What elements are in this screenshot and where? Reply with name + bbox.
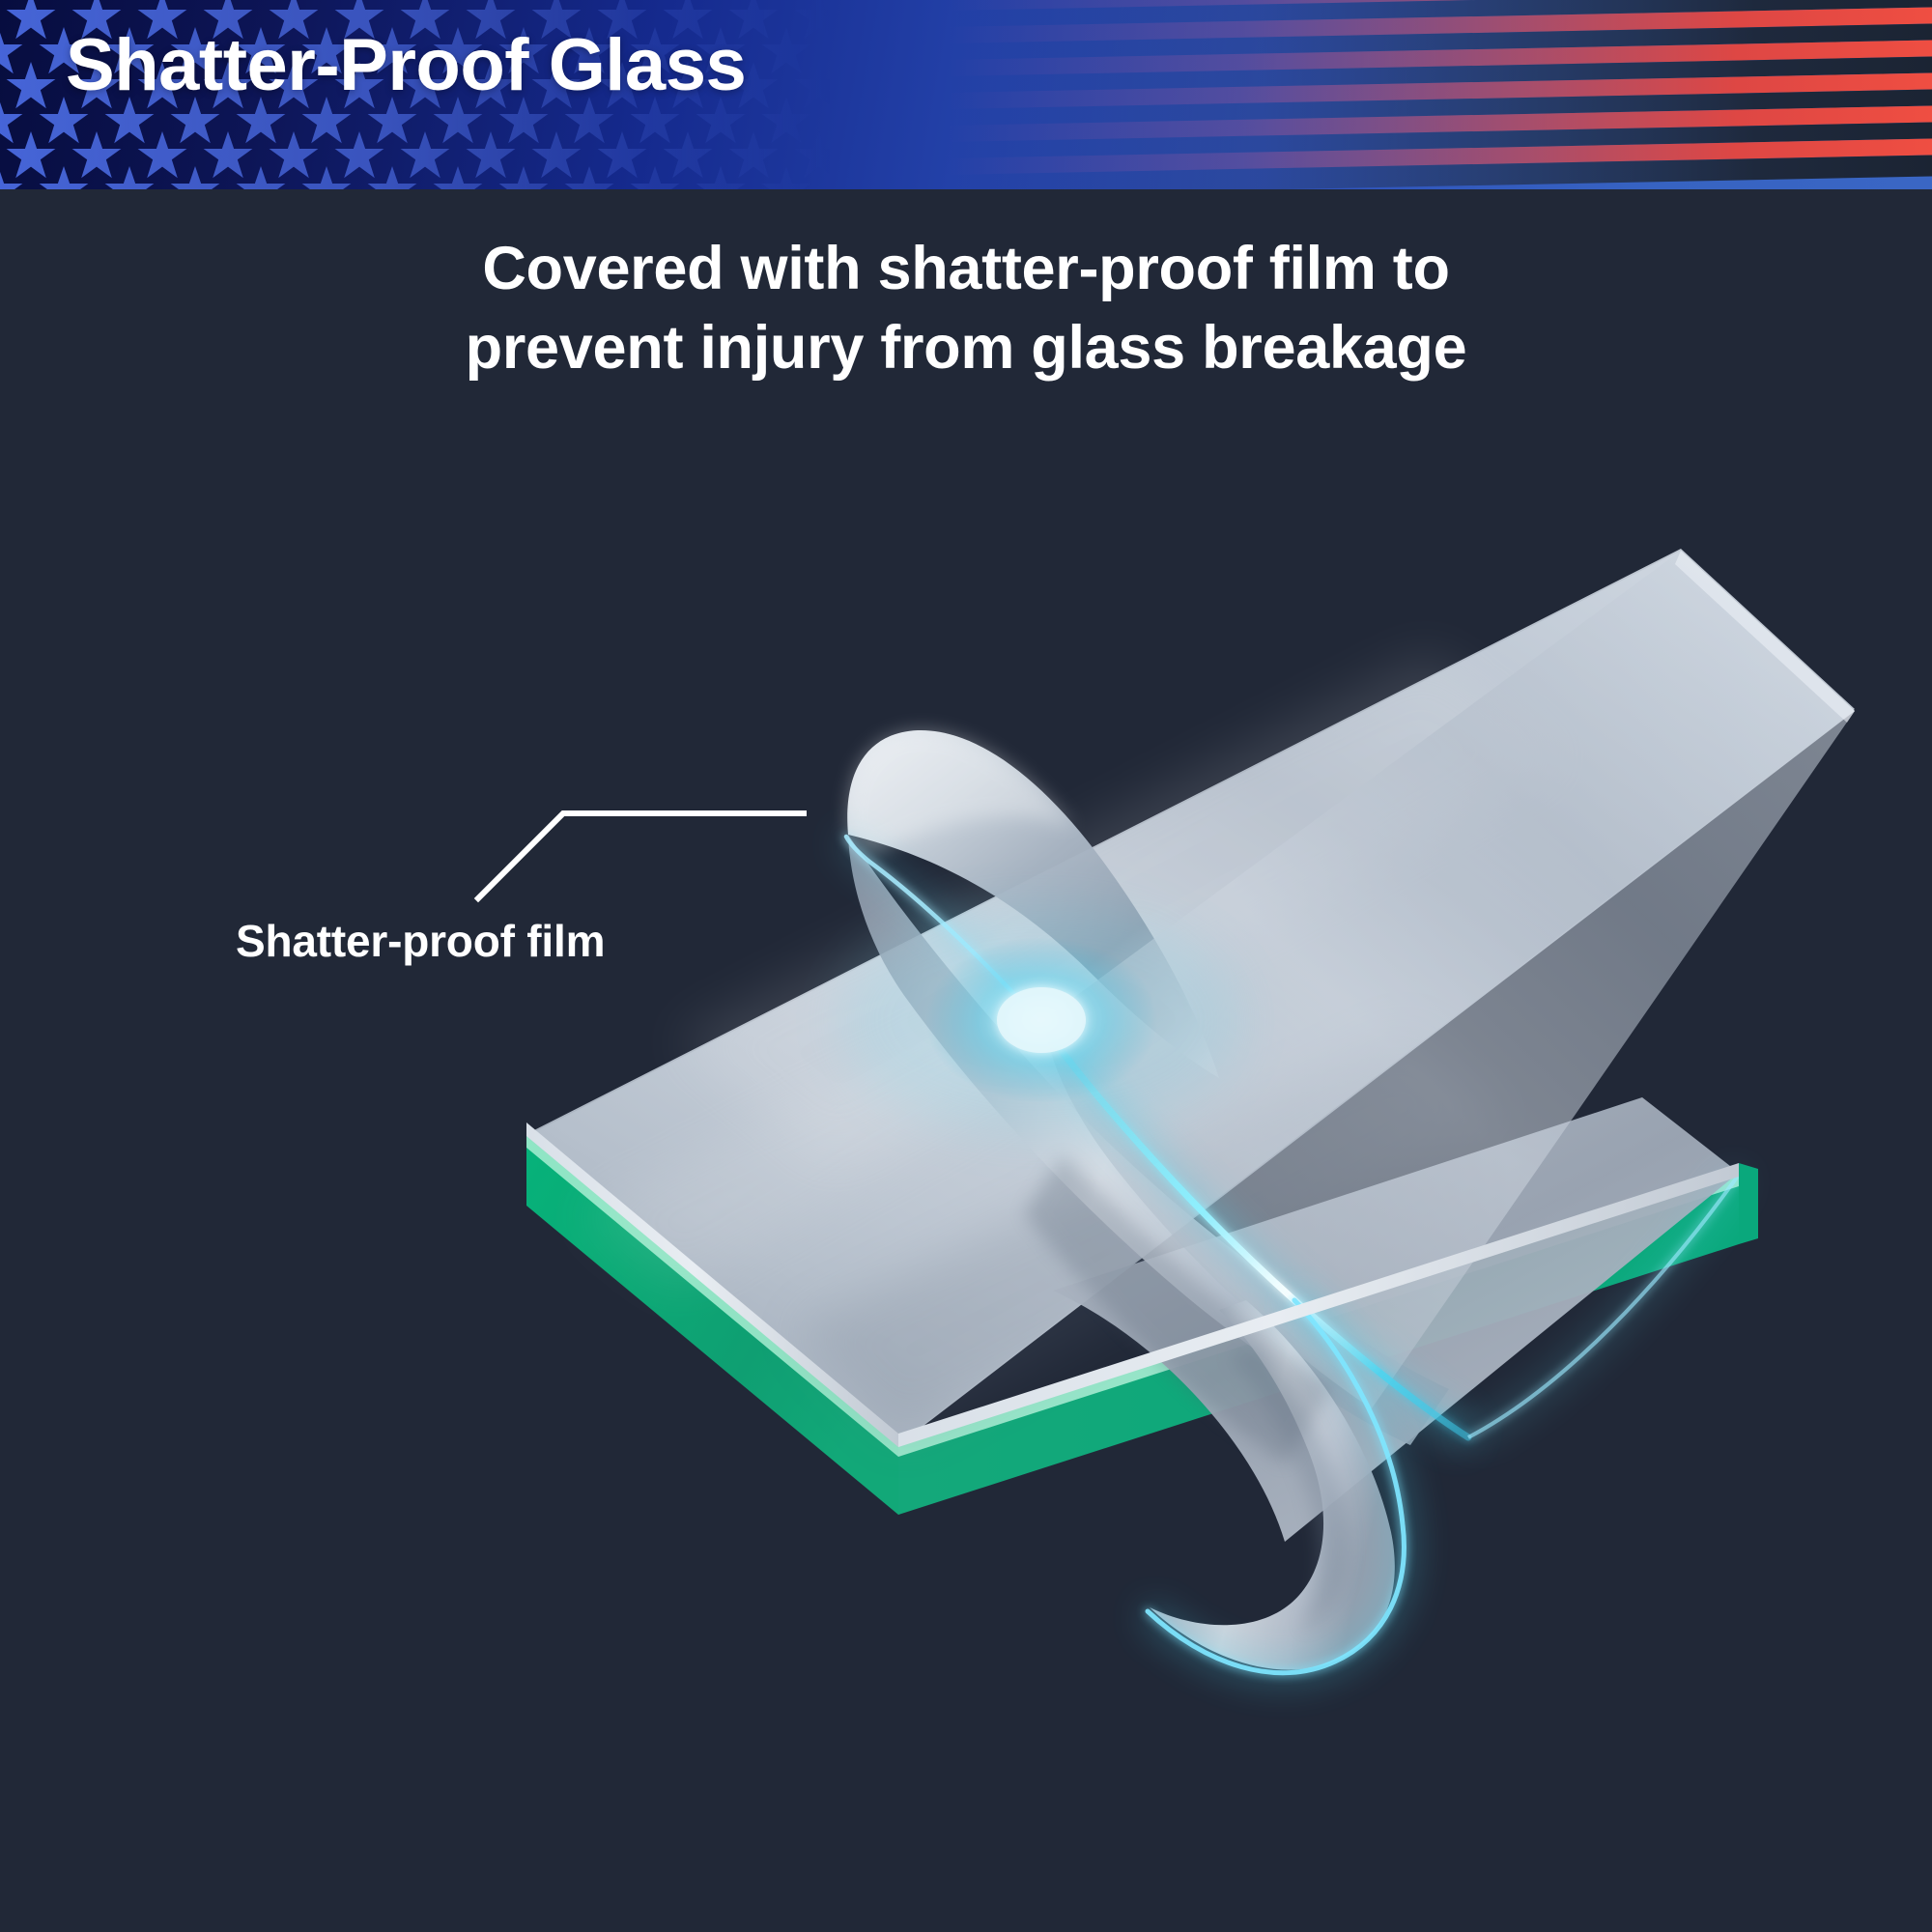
cyan-edge-glow [846, 837, 1739, 1673]
film-curl [848, 777, 1507, 1484]
film-curl-tongue [1150, 1300, 1395, 1670]
film-wing-left [847, 730, 1219, 1078]
callout-label: Shatter-proof film [236, 915, 605, 967]
page-title: Shatter-Proof Glass [66, 27, 746, 104]
revealed-glass-under-flap [1053, 1097, 1739, 1542]
subheadline: Covered with shatter-proof film to preve… [0, 230, 1932, 388]
peeling-film-flap [800, 706, 1381, 1464]
glass-front-bevel [526, 1122, 1739, 1447]
film-wing-highlight [847, 730, 1074, 856]
film-plane-right [1043, 551, 1855, 1408]
header-banner: Shatter-Proof Glass [0, 0, 1932, 189]
glass-illustration [0, 189, 1932, 1932]
subheadline-line-2: prevent injury from glass breakage [0, 309, 1932, 388]
subheadline-line-1: Covered with shatter-proof film to [0, 230, 1932, 309]
film-curl-shadow [1229, 1349, 1349, 1631]
glass-rim-light [1675, 551, 1855, 723]
product-feature-card: Shatter-Proof Glass Covered with shatter… [0, 0, 1932, 1932]
film-drop-shadow [1024, 1155, 1333, 1464]
adhered-film-layer [526, 549, 1855, 1443]
glass-slab [526, 551, 1855, 1445]
callout-leader-line [444, 792, 831, 927]
stripes-pattern [947, 0, 1932, 189]
specular-hotspot [838, 904, 1244, 1136]
glass-corner-tip [1739, 1163, 1758, 1244]
glass-green-edge [526, 1134, 1739, 1515]
film-sheet-lifted [848, 835, 1449, 1445]
